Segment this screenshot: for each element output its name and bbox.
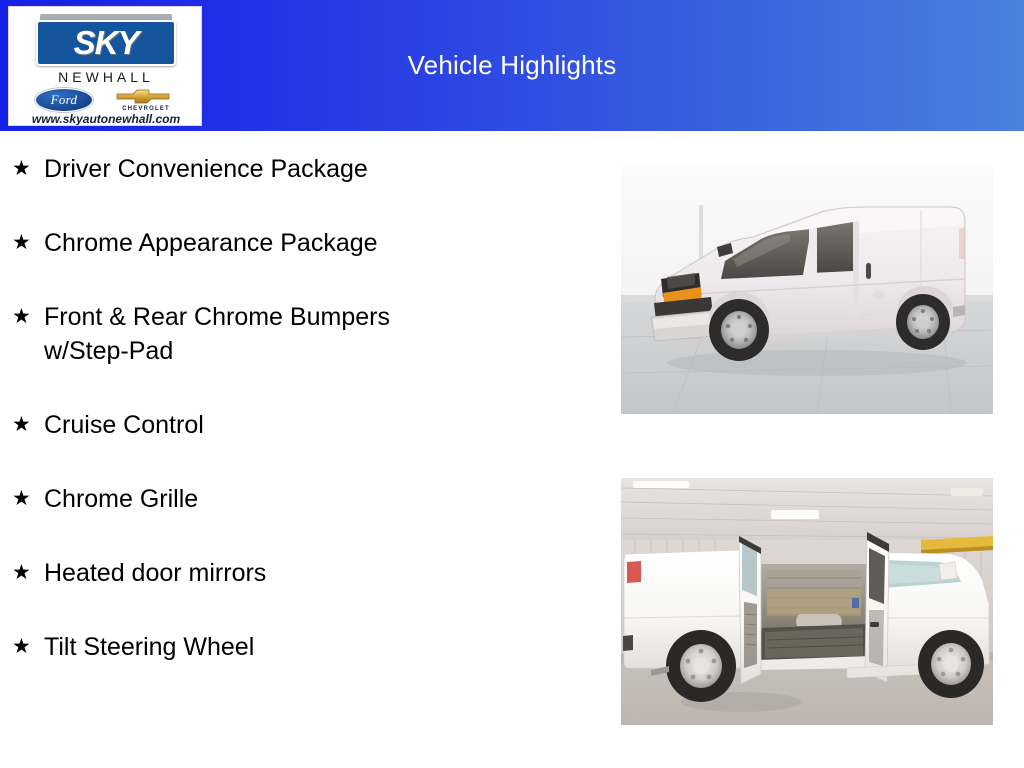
chevrolet-bowtie-icon xyxy=(115,87,171,105)
dealer-website-text: www.skyautonewhall.com xyxy=(9,112,202,126)
star-bullet-icon: ★ xyxy=(12,300,44,334)
list-item: ★ Driver Convenience Package xyxy=(0,152,600,186)
dealer-location-text: NEWHALL xyxy=(9,69,202,85)
list-item: ★ Chrome Appearance Package xyxy=(0,226,600,260)
list-item: ★ Tilt Steering Wheel xyxy=(0,630,600,664)
vehicle-photo-exterior[interactable] xyxy=(621,167,993,414)
highlight-label: Front & Rear Chrome Bumpers w/Step-Pad xyxy=(44,300,390,368)
sky-badge-body: SKY xyxy=(36,20,176,66)
highlight-label: Chrome Grille xyxy=(44,482,198,516)
highlight-label: Chrome Appearance Package xyxy=(44,226,378,260)
sky-brand-text: SKY xyxy=(74,24,139,62)
cargo-photo-graphic xyxy=(621,478,993,725)
star-bullet-icon: ★ xyxy=(12,630,44,664)
list-item: ★ Heated door mirrors xyxy=(0,556,600,590)
sky-badge-icon: SKY xyxy=(36,14,176,66)
star-bullet-icon: ★ xyxy=(12,152,44,186)
ford-logo-text: Ford xyxy=(51,92,78,108)
list-item: ★ Cruise Control xyxy=(0,408,600,442)
vehicle-highlights-slide: Vehicle Highlights SKY NEWHALL Ford xyxy=(0,0,1024,768)
star-bullet-icon: ★ xyxy=(12,226,44,260)
star-bullet-icon: ★ xyxy=(12,556,44,590)
chevrolet-logo-icon: CHEVROLET xyxy=(115,87,177,112)
oem-brand-row: Ford CHEVROLET xyxy=(9,87,202,112)
highlight-label: Cruise Control xyxy=(44,408,204,442)
star-bullet-icon: ★ xyxy=(12,482,44,516)
dealer-logo: SKY NEWHALL Ford CHE xyxy=(8,6,202,126)
highlight-label: Driver Convenience Package xyxy=(44,152,368,186)
vehicle-photo-cargo-area[interactable] xyxy=(621,478,993,725)
list-item: ★ Front & Rear Chrome Bumpers w/Step-Pad xyxy=(0,300,600,368)
list-item: ★ Chrome Grille xyxy=(0,482,600,516)
ford-logo-icon: Ford xyxy=(35,88,93,112)
highlight-label: Tilt Steering Wheel xyxy=(44,630,254,664)
highlight-label: Heated door mirrors xyxy=(44,556,266,590)
highlights-list: ★ Driver Convenience Package ★ Chrome Ap… xyxy=(0,152,600,704)
star-bullet-icon: ★ xyxy=(12,408,44,442)
exterior-photo-graphic xyxy=(621,167,993,414)
